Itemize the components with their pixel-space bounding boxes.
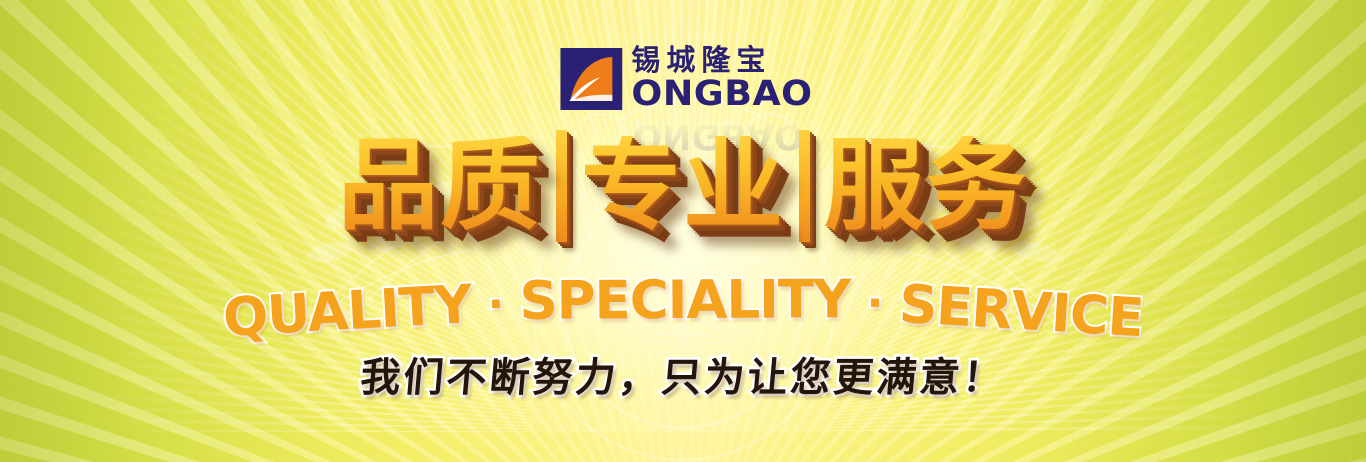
tagline: 我们不断努力，只为让您更满意！ [359,358,1007,398]
headline-word-service: 服务 [824,136,1028,236]
headline-separator-1 [556,130,567,242]
sail-wave-logo-mark-icon [560,48,622,110]
logo-chinese-name: 锡城隆宝 [631,46,805,75]
headline: 品质 专业 服务 [338,130,1028,242]
subtitle-word-service: SERVICE [898,278,1145,345]
subtitle-separator-2: · [866,281,884,325]
subtitle-word-speciality: SPECIALITY [520,273,851,328]
banner-content: ONGBAO 锡城隆宝 ONGBAO 品质 专业 服务 QUALITY [0,0,1366,462]
headline-separator-2 [799,130,810,242]
logo-wordmark: 锡城隆宝 ONGBAO [631,46,805,112]
subtitle-separator-1: · [487,282,505,326]
subtitle: QUALITY · SPECIALITY · SERVICE [223,277,1144,330]
subtitle-word-quality: QUALITY [222,278,473,345]
company-logo[interactable]: 锡城隆宝 ONGBAO [560,46,805,112]
logo-english-name: ONGBAO [631,77,812,112]
promotional-banner: ONGBAO 锡城隆宝 ONGBAO 品质 专业 服务 QUALITY [0,0,1366,462]
headline-word-speciality: 专业 [581,136,785,236]
headline-word-quality: 品质 [338,136,542,236]
